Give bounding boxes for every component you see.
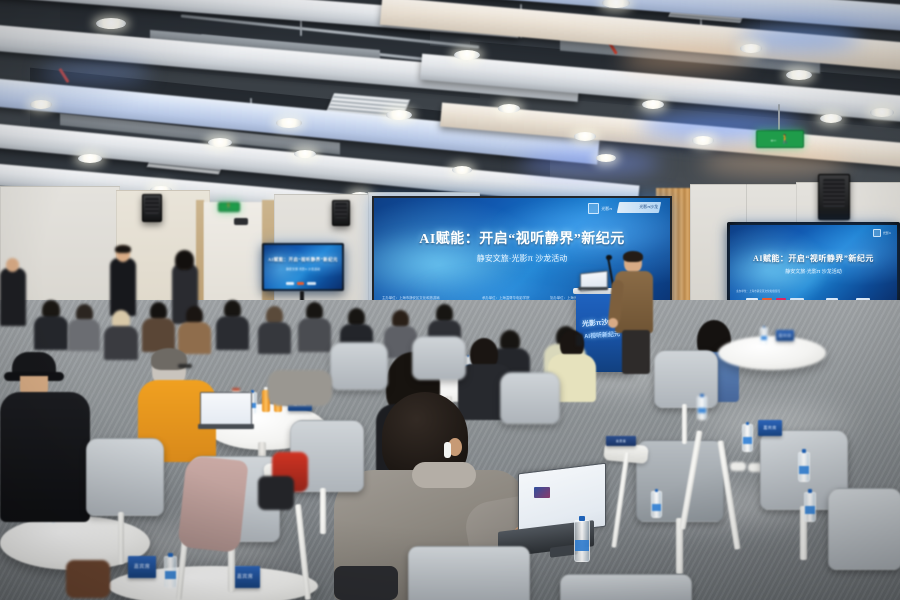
tent-card-label-arm: 嘉宾席 [616,440,626,443]
foreground-laptop-thumbnail [534,487,550,498]
right-screen-credit: 主办单位：上海市静安区文化和旅游局 [736,289,780,293]
far-audience-body-3 [104,326,138,360]
far-audience-body-8 [298,318,331,352]
audience-orange-laptop-screen [200,392,252,428]
left-led-screen: AI赋能：开启“视听静界”新纪元 静安文旅·光影π 沙龙活动 [264,245,342,289]
chair-11 [408,546,530,600]
tent-card-tablet-arm: 嘉宾席 [606,436,636,446]
main-screen-logo: 光影π [588,203,612,214]
running-man-icon-small: 🚶 [225,204,232,210]
audience-blue-blouse-shoe-l [730,462,746,471]
water-bottle-floor [804,492,816,522]
wall-speaker-right [818,174,850,220]
right-display-frame: AI赋能：开启“视听静界”新纪元 静安文旅·光影π 沙龙活动 光影π 主办单位：… [727,222,900,310]
tent-card-e1: 嘉宾席 [128,556,156,578]
downlight-2 [454,50,480,60]
chair-9 [330,342,388,390]
beam-light-warm-1 [620,48,750,72]
water-bottle-seat-6 [651,491,662,518]
wall-speaker-left [142,194,162,222]
downlight-1 [96,18,126,29]
downlight-22 [740,44,762,53]
standing-person-1-body [110,258,136,316]
audience-orange-glasses [178,364,192,368]
standing-person-1-hair [115,245,131,253]
main-screen-logo-text: 光影π [601,206,612,212]
foreground-person-collar [412,462,476,488]
downlight-7 [208,138,232,147]
downlight-13 [820,114,842,123]
chair-8 [500,372,560,424]
main-screen-title: AI赋能：开启“视听静界”新纪元 [374,228,670,248]
far-audience-body-2 [68,319,100,351]
downlight-6 [276,118,302,128]
floor-bag-brown [66,560,110,598]
left-sponsor-3 [307,282,316,285]
tent-card-label-e1: 嘉宾席 [134,565,150,570]
downlight-12 [692,136,714,145]
left-sponsor-1 [286,282,294,285]
far-audience-body-5 [178,322,211,354]
right-led-screen: AI赋能：开启“视听静界”新纪元 静安文旅·光影π 沙龙活动 光影π 主办单位：… [730,225,897,307]
speaker-hair [623,251,643,262]
round-table-c [718,336,826,370]
chair-7-leg [682,404,687,444]
speaker-hand [608,318,618,328]
downlight-18 [452,166,472,174]
podium-laptop-base [578,287,608,290]
chair-4 [636,440,724,522]
ceiling-camera [234,218,248,225]
standing-person-2-hair [175,250,194,270]
far-audience-body-6 [216,316,249,350]
conference-hall-photo: ← 🚶 🚶 AI赋能：开启“视听静 [0,0,900,600]
audience-orange-laptop-base [198,424,254,429]
chair-1-leg [118,512,124,564]
podium-microphone-head [606,255,612,260]
water-bottle-chair-5 [742,424,753,452]
downlight-15 [294,150,316,158]
audience-yellow-phone [576,334,583,346]
standing-person-3-body [0,268,26,326]
tent-card-label-seat-1: 嘉宾席 [763,426,776,430]
chair-12 [560,574,692,600]
water-bottle-e1 [164,556,177,588]
tent-card-c1: 嘉宾席 [776,330,794,341]
left-screen-subtitle: 静安文旅·光影π 沙龙活动 [264,267,342,271]
left-sponsor-2 [297,282,304,285]
tent-card-label-e2: 嘉宾席 [237,575,253,580]
main-screen-ribbon-text: 光影π沙龙 [639,204,658,210]
downlight-11 [642,100,664,109]
exit-sign-doorway: 🚶 [218,202,240,212]
downlight-19 [596,154,616,162]
downlight-10 [498,104,520,113]
dark-backpack [258,476,294,510]
water-bottle-foreground [574,520,590,562]
water-bottle-c1 [760,327,768,345]
far-audience-body-4 [142,318,175,352]
left-screen-title: AI赋能：开启“视听静界”新纪元 [264,257,342,263]
exit-sign-ceiling: ← 🚶 [756,130,804,148]
right-screen-title: AI赋能：开启“视听静界”新纪元 [730,253,897,264]
exit-sign-hanger [778,104,780,130]
far-audience-body-7 [258,322,291,354]
wall-speaker-mid [332,200,350,226]
water-bottle-seat-7 [697,396,707,420]
chair-10 [412,336,466,380]
standing-person-3-head [6,258,19,272]
downlight-9 [386,110,412,120]
draped-blanket [177,455,248,553]
beam-light-warm-2 [700,150,850,176]
downlight-21 [30,100,52,109]
downlight-8 [78,154,102,163]
left-display-frame: AI赋能：开启“视听静界”新纪元 静安文旅·光影π 沙龙活动 [262,243,344,291]
downlight-5 [870,108,894,117]
beam-light-blue-4 [40,62,150,84]
tent-card-seat-1: 嘉宾席 [758,420,782,436]
speaker-trousers [622,330,650,374]
foreground-person-earbud-icon [444,442,451,458]
exit-arrow-icon: ← [769,135,778,144]
draped-coat-gray [268,370,332,406]
logo-mark-icon [588,203,599,214]
running-man-icon: 🚶 [780,135,791,144]
tent-card-label-c1: 嘉宾席 [778,334,791,338]
right-screen-logo-text: 光影π [883,231,891,235]
right-screen-logo: 光影π [873,229,891,237]
beam-light-blue-3 [520,150,660,176]
downlight-4 [786,70,812,80]
foreground-person-bag [334,566,398,600]
chair-6 [828,488,900,570]
far-audience-body-1 [34,316,68,350]
audience-hat-person-coat [0,392,90,522]
chair-7 [654,350,718,408]
logo-mark-icon-right [873,229,881,237]
chair-3-leg [320,488,326,534]
right-screen-subtitle: 静安文旅·光影π 沙龙活动 [730,268,897,275]
water-bottle-chair-4 [798,452,810,482]
downlight-17 [574,132,596,141]
chair-1 [86,438,164,516]
